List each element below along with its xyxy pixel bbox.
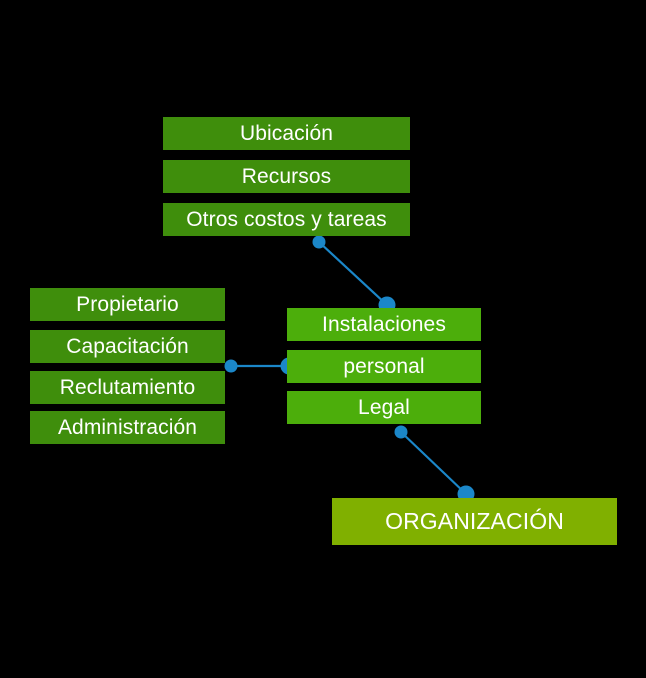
node-otros-costos-y-tareas[interactable]: Otros costos y tareas xyxy=(163,203,410,236)
connector-otros-costos-to-instalaciones xyxy=(319,242,387,305)
node-organizacion[interactable]: ORGANIZACIÓN xyxy=(332,498,617,545)
node-instalaciones[interactable]: Instalaciones xyxy=(287,308,481,341)
mindmap-canvas: Ubicación Recursos Otros costos y tareas… xyxy=(0,0,646,678)
node-administracion[interactable]: Administración xyxy=(30,411,225,444)
node-reclutamiento[interactable]: Reclutamiento xyxy=(30,371,225,404)
node-propietario[interactable]: Propietario xyxy=(30,288,225,321)
node-ubicacion[interactable]: Ubicación xyxy=(163,117,410,150)
connector-dot-left-branch[interactable] xyxy=(225,360,238,373)
connector-dot-otros-costos[interactable] xyxy=(313,236,326,249)
connector-dot-legal[interactable] xyxy=(395,426,408,439)
node-legal[interactable]: Legal xyxy=(287,391,481,424)
node-personal[interactable]: personal xyxy=(287,350,481,383)
connector-legal-to-organizacion xyxy=(401,432,466,494)
node-capacitacion[interactable]: Capacitación xyxy=(30,330,225,363)
node-recursos[interactable]: Recursos xyxy=(163,160,410,193)
